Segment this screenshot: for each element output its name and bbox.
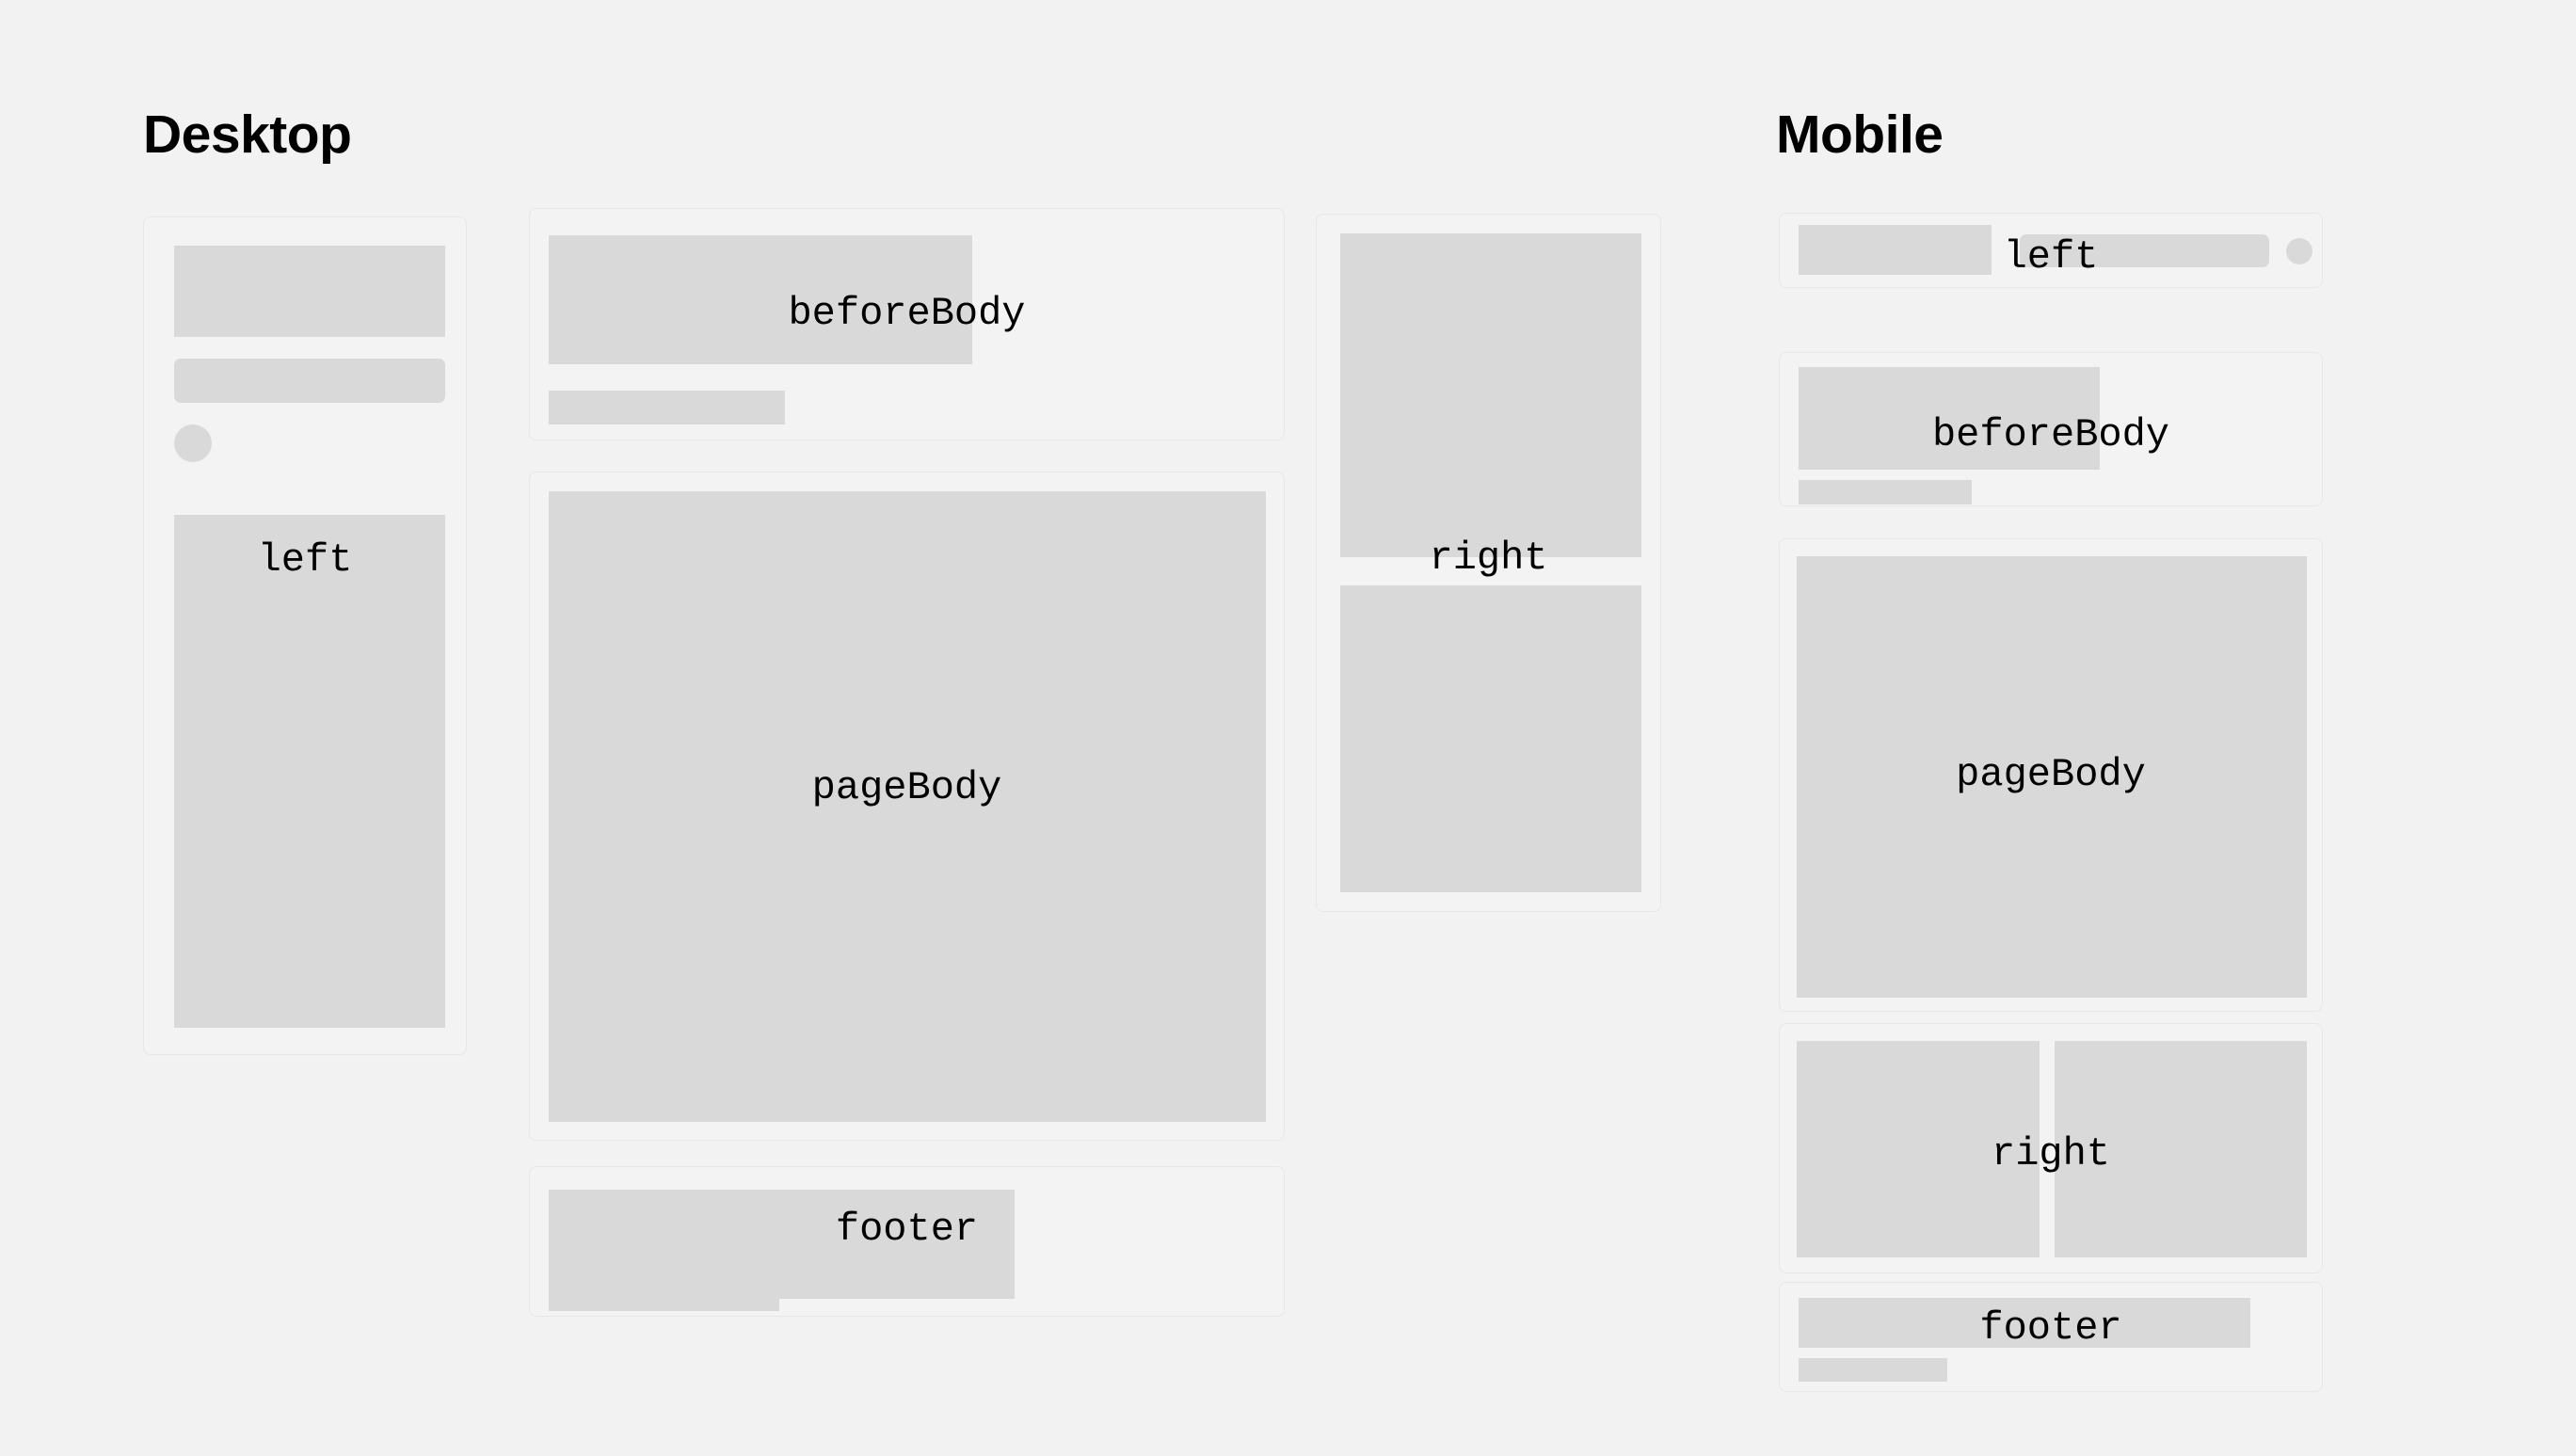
mobile-section-title: Mobile	[1776, 108, 1944, 162]
mobile-beforebody-panel[interactable]	[1779, 352, 2323, 506]
skeleton-block-left-column	[1797, 1041, 2040, 1257]
skeleton-block-hero	[1799, 1298, 2250, 1348]
desktop-footer-panel[interactable]	[529, 1166, 1285, 1317]
skeleton-block-line	[2020, 234, 2269, 267]
mobile-pagebody-panel[interactable]	[1779, 538, 2323, 1012]
skeleton-block-top	[1340, 233, 1641, 557]
desktop-beforebody-panel[interactable]	[529, 208, 1285, 440]
desktop-pagebody-panel[interactable]	[529, 472, 1285, 1141]
skeleton-block-line	[1799, 480, 1972, 504]
skeleton-block-line	[174, 359, 445, 403]
skeleton-block-right-column	[2055, 1041, 2307, 1257]
skeleton-block-bottom	[1340, 585, 1641, 892]
skeleton-block-main	[549, 491, 1266, 1122]
desktop-right-panel[interactable]	[1316, 214, 1661, 912]
skeleton-block-hero	[1799, 367, 2100, 470]
mobile-footer-panel[interactable]	[1779, 1282, 2323, 1392]
skeleton-block-line	[549, 1277, 779, 1311]
skeleton-block-main	[1797, 556, 2307, 998]
skeleton-circle-avatar	[2286, 238, 2312, 264]
mobile-left-panel[interactable]	[1779, 213, 2323, 288]
skeleton-circle-avatar	[174, 424, 212, 462]
skeleton-block-line	[549, 391, 785, 424]
skeleton-block-image	[1799, 225, 1992, 275]
skeleton-block-line	[1799, 1358, 1947, 1382]
skeleton-block-hero	[549, 235, 972, 364]
desktop-left-panel[interactable]	[143, 216, 467, 1055]
skeleton-block-tall	[174, 515, 445, 1028]
skeleton-block-image	[174, 246, 445, 337]
desktop-section-title: Desktop	[143, 108, 351, 162]
mobile-right-panel[interactable]	[1779, 1023, 2323, 1273]
